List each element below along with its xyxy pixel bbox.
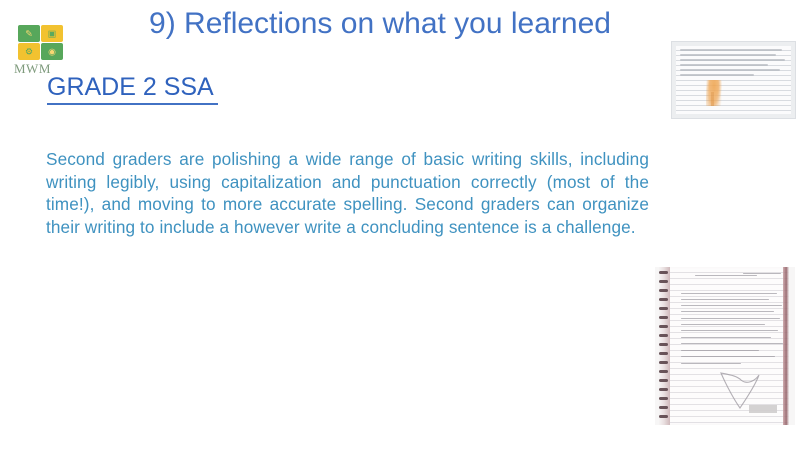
book-icon: ▣ [48, 29, 57, 38]
logo-wordmark: MWM [14, 61, 51, 77]
notebook-page-edge [783, 267, 789, 425]
slide-body-text: Second graders are polishing a wide rang… [46, 148, 649, 238]
slide-canvas: ✎ ▣ ⚙ ◉ MWM 9) Reflections on what you l… [0, 0, 800, 450]
photo-watermark [749, 405, 777, 413]
notebook-page-surface [669, 267, 789, 425]
lightbulb-icon: ◉ [48, 47, 56, 56]
slide-subtitle: GRADE 2 SSA [47, 72, 218, 105]
spiral-notebook-page-photo [655, 267, 795, 425]
puzzle-logo-mark: ✎ ▣ ⚙ ◉ [18, 25, 64, 60]
puzzle-piece-top-right: ▣ [41, 25, 63, 42]
puzzle-piece-bottom-left: ⚙ [18, 43, 40, 60]
pencil-icon: ✎ [25, 29, 33, 38]
lined-paper-surface [676, 46, 791, 114]
puzzle-piece-top-left: ✎ [18, 25, 40, 42]
page-title: 9) Reflections on what you learned [100, 6, 660, 42]
gear-icon: ⚙ [25, 47, 33, 56]
handwriting-lined-paper-photo [671, 41, 796, 119]
puzzle-piece-bottom-right: ◉ [41, 43, 63, 60]
crayon-drawing [706, 80, 722, 106]
